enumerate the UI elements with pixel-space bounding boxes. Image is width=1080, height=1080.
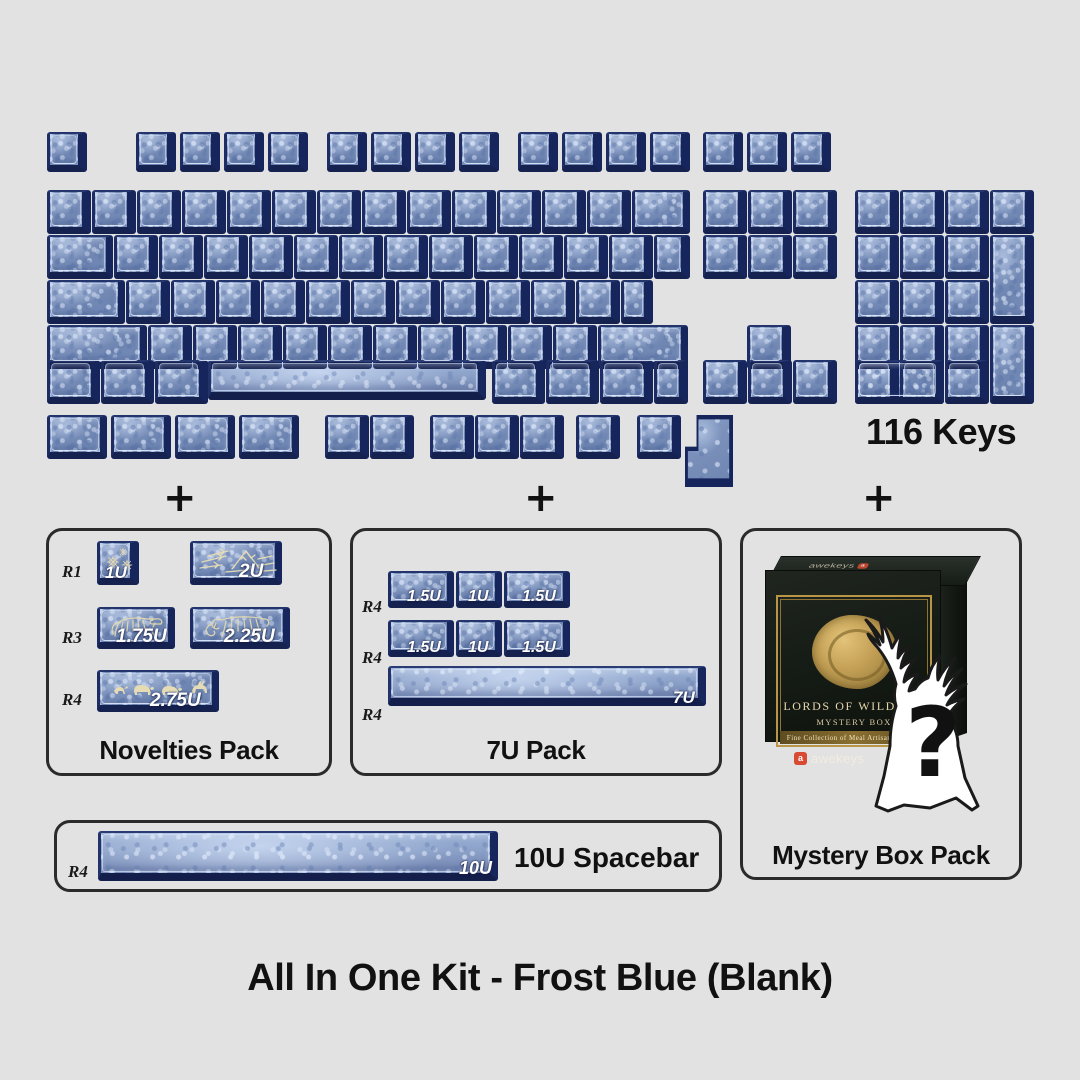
keycap-face	[388, 238, 418, 271]
keycap-face	[751, 328, 781, 361]
keycap-mods-row-2	[175, 415, 235, 459]
keycap-face	[535, 283, 565, 316]
keycap-number-row-14	[703, 190, 747, 234]
keycap-face	[546, 193, 576, 226]
keycap-face	[522, 135, 548, 164]
keycap-qwerty-row-14	[703, 235, 747, 279]
keycap-face	[654, 135, 680, 164]
keycap-face	[419, 135, 445, 164]
brand-mark-icon: a	[794, 752, 807, 765]
keycap-face	[994, 238, 1024, 316]
keycap-home-row-7	[396, 280, 440, 324]
keycap-home-row-13	[855, 280, 899, 324]
keycap-number-row-20	[990, 190, 1034, 234]
keycap-qwerty-row-3	[204, 235, 248, 279]
keycap-face	[797, 363, 827, 396]
sevenu-keycap-1u-b[interactable]	[456, 620, 502, 657]
keycap-mods-row-7	[475, 415, 519, 459]
keycap-face	[707, 238, 737, 271]
keycap-face	[636, 193, 682, 226]
keycap-number-row-13	[632, 190, 690, 234]
keycap-home-row-4	[261, 280, 305, 324]
keycap-qwerty-row-12	[609, 235, 653, 279]
keycap-qwerty-row-5	[294, 235, 338, 279]
keycap-home-row-11	[576, 280, 620, 324]
keycap-face	[366, 193, 396, 226]
keycap-face	[707, 135, 733, 164]
keycap-face	[445, 283, 475, 316]
keycap-face	[272, 135, 298, 164]
keycap-number-row-17	[855, 190, 899, 234]
keycap-mods-row-1	[111, 415, 171, 459]
keycap-function-row-15	[791, 132, 831, 172]
keycap-number-row-7	[362, 190, 406, 234]
novelties-row-label-r3: R3	[62, 628, 82, 648]
keycap-function-row-2	[180, 132, 220, 172]
keycap-face	[949, 238, 979, 271]
keycap-face	[566, 135, 592, 164]
keycap-face	[557, 328, 587, 361]
keycap-home-row-12	[621, 280, 653, 324]
keycap-home-row-2	[171, 280, 215, 324]
keycap-face	[467, 328, 497, 361]
keycap-face	[375, 135, 401, 164]
keycap-bottom-row-1	[101, 360, 154, 404]
keycap-face	[604, 363, 643, 396]
keycap-qwerty-row-16	[793, 235, 837, 279]
keycap-face	[152, 328, 182, 361]
keycap-number-row-16	[793, 190, 837, 234]
plus-separator-2: +	[524, 478, 558, 518]
keycap-mods-row-4	[325, 415, 369, 459]
keycap-face	[159, 363, 198, 396]
keycap-face	[751, 135, 777, 164]
keycap-function-row-12	[650, 132, 690, 172]
keycap-function-row-1	[136, 132, 176, 172]
keycap-face	[332, 328, 362, 361]
novelties-pack-label: Novelties Pack	[46, 735, 332, 766]
keycap-face	[580, 283, 610, 316]
product-image-canvas: 116 Keys + + + R1 R3 R4	[0, 0, 1080, 1080]
keycap-face	[859, 193, 889, 226]
keycap-face	[904, 238, 934, 271]
keycap-face	[859, 328, 889, 361]
keycap-bottom-row-5	[600, 360, 653, 404]
keycap-face	[602, 328, 680, 361]
sevenu-keycap-15u-a[interactable]	[388, 571, 454, 608]
novelties-row-label-r1: R1	[62, 562, 82, 582]
keycap-face	[904, 328, 934, 361]
keycap-face	[130, 283, 160, 316]
keycap-face	[253, 238, 283, 271]
keycap-qwerty-row-10	[519, 235, 563, 279]
keycap-number-row-2	[137, 190, 181, 234]
keycap-face	[101, 544, 129, 577]
keycap-face	[434, 418, 464, 451]
keycap-face	[243, 418, 291, 451]
keycap-function-row-10	[562, 132, 602, 172]
keycap-qwerty-row-1	[114, 235, 158, 279]
keycap-face	[479, 418, 509, 451]
keycap-face	[374, 418, 404, 451]
keycap-face	[411, 193, 441, 226]
keycap-numpad-tall-0	[990, 235, 1034, 324]
keycap-face	[96, 193, 126, 226]
keycap-face	[140, 135, 166, 164]
keycap-face	[343, 238, 373, 271]
sevenu-keycap-1u-a[interactable]	[456, 571, 502, 608]
sevenu-row-label-3: R4	[362, 705, 382, 725]
keycap-face	[329, 418, 359, 451]
keycap-face	[591, 193, 621, 226]
keycap-qwerty-row-13	[654, 235, 690, 279]
keycap-function-row-13	[703, 132, 743, 172]
novelty-keycap-275u[interactable]	[97, 670, 219, 712]
keycap-number-row-10	[497, 190, 541, 234]
keycap-function-row-0	[47, 132, 87, 172]
keycap-face	[265, 283, 295, 316]
keycap-face	[797, 238, 827, 271]
keycap-function-row-14	[747, 132, 787, 172]
keycap-home-row-8	[441, 280, 485, 324]
keycap-face	[276, 193, 306, 226]
keycap-numpad-zero	[855, 360, 944, 404]
keycap-face	[321, 193, 351, 226]
keycap-face	[118, 238, 148, 271]
keycap-face	[377, 328, 407, 361]
keycap-face	[105, 363, 144, 396]
keycap-face	[859, 283, 889, 316]
keycap-function-row-8	[459, 132, 499, 172]
box-lid-brand: awekeys a	[807, 563, 869, 570]
keycap-qwerty-row-11	[564, 235, 608, 279]
keycap-face	[904, 283, 934, 316]
spacebar-10u-keycap[interactable]	[98, 831, 498, 881]
keycap-face	[859, 363, 936, 396]
product-title: All In One Kit - Frost Blue (Blank)	[0, 957, 1080, 1000]
keycap-number-row-5	[272, 190, 316, 234]
keycap-face	[51, 283, 117, 316]
keycap-number-row-15	[748, 190, 792, 234]
keycap-face	[115, 418, 163, 451]
sevenu-spacebar-keycap[interactable]	[388, 666, 706, 706]
keycap-face	[51, 418, 99, 451]
keycap-face	[228, 135, 254, 164]
keycap-qwerty-row-18	[900, 235, 944, 279]
sevenu-keycap-15u-b[interactable]	[504, 571, 570, 608]
keycap-face	[141, 193, 171, 226]
keycap-mods-row-6	[430, 415, 474, 459]
keycap-home-row-6	[351, 280, 395, 324]
keycap-number-row-11	[542, 190, 586, 234]
spacebar-10u-label: 10U Spacebar	[514, 842, 699, 874]
sevenu-row-label-2: R4	[362, 648, 382, 668]
keycap-home-row-15	[945, 280, 989, 324]
keycap-face	[463, 135, 489, 164]
keycap-qwerty-row-4	[249, 235, 293, 279]
keycap-number-row-0	[47, 190, 91, 234]
keycap-function-row-9	[518, 132, 558, 172]
keycap-qwerty-row-8	[429, 235, 473, 279]
keycap-mods-row-10	[637, 415, 681, 459]
keycap-face	[859, 238, 889, 271]
keycap-face	[355, 283, 385, 316]
keycap-face	[433, 238, 463, 271]
keycap-number-row-8	[407, 190, 451, 234]
keycap-face	[949, 283, 979, 316]
keycap-face	[194, 610, 282, 641]
keycap-face	[949, 328, 979, 361]
keycap-face	[208, 238, 238, 271]
keycap-bottom-row-6	[654, 360, 688, 404]
keycap-number-row-4	[227, 190, 271, 234]
keycap-number-row-6	[317, 190, 361, 234]
keycap-face	[101, 673, 211, 704]
brand-name-lid: awekeys	[807, 563, 856, 570]
keycap-qwerty-row-2	[159, 235, 203, 279]
keycap-face	[478, 238, 508, 271]
keycap-home-row-5	[306, 280, 350, 324]
keycap-mods-row-0	[47, 415, 107, 459]
keycap-face	[490, 283, 520, 316]
keycap-face	[550, 363, 589, 396]
keycap-face	[51, 135, 77, 164]
mystery-pack-label: Mystery Box Pack	[740, 840, 1022, 871]
keycap-face	[994, 193, 1024, 226]
keycap-face	[231, 193, 261, 226]
keycap-face	[512, 328, 542, 361]
keycap-face	[752, 193, 782, 226]
novelty-keycap-175u[interactable]	[97, 607, 175, 649]
keycap-function-row-6	[371, 132, 411, 172]
keycap-face	[752, 363, 782, 396]
keycap-qwerty-row-15	[748, 235, 792, 279]
keycap-face	[163, 238, 193, 271]
keycap-count-label: 116 Keys	[866, 411, 1016, 453]
keycap-face	[220, 283, 250, 316]
keycap-number-row-19	[945, 190, 989, 234]
keycap-number-row-12	[587, 190, 631, 234]
keycap-bottom-row-12	[945, 360, 989, 404]
keycap-face	[625, 283, 643, 316]
keycap-bottom-row-3	[492, 360, 545, 404]
keycap-bottom-row-0	[47, 360, 100, 404]
keycap-face	[175, 283, 205, 316]
keycap-face	[184, 135, 210, 164]
keycap-number-row-18	[900, 190, 944, 234]
keycap-function-row-11	[606, 132, 646, 172]
sevenu-keycap-15u-d[interactable]	[504, 620, 570, 657]
keycap-bottom-row-9	[793, 360, 837, 404]
keycap-face	[51, 363, 90, 396]
keycap-face	[242, 328, 272, 361]
keycap-home-row-14	[900, 280, 944, 324]
keycap-mods-row-3	[239, 415, 299, 459]
keycap-face	[51, 238, 105, 271]
keycap-face	[994, 328, 1024, 396]
keycap-function-row-5	[327, 132, 367, 172]
novelty-keycap-1u[interactable]	[97, 541, 139, 585]
keycap-face	[568, 238, 598, 271]
keycap-qwerty-row-9	[474, 235, 518, 279]
keycap-number-row-9	[452, 190, 496, 234]
plus-separator-3: +	[862, 478, 896, 518]
keycap-face	[186, 193, 216, 226]
keycap-face	[101, 610, 167, 641]
keycap-number-row-3	[182, 190, 226, 234]
novelty-keycap-2u[interactable]	[190, 541, 282, 585]
sevenu-row-label-1: R4	[362, 597, 382, 617]
keycap-face	[523, 238, 553, 271]
keycap-face	[310, 283, 340, 316]
keycap-face	[904, 193, 934, 226]
keycap-face	[641, 418, 671, 451]
keycap-qwerty-row-17	[855, 235, 899, 279]
keycap-face	[400, 283, 430, 316]
keycap-home-row-3	[216, 280, 260, 324]
keycap-face	[197, 328, 227, 361]
keycap-home-row-10	[531, 280, 575, 324]
keycap-face	[949, 363, 979, 396]
keycap-bottom-row-2	[155, 360, 208, 404]
keycap-face	[795, 135, 821, 164]
keycap-face	[610, 135, 636, 164]
iso-enter-keycap	[685, 415, 733, 487]
keycap-face	[501, 193, 531, 226]
keycap-face	[179, 418, 227, 451]
keycap-qwerty-row-19	[945, 235, 989, 279]
plus-separator-1: +	[163, 478, 197, 518]
keycap-mods-row-9	[576, 415, 620, 459]
keycap-face	[752, 238, 782, 271]
keycap-face	[496, 363, 535, 396]
keycap-function-row-4	[268, 132, 308, 172]
keycap-mods-row-8	[520, 415, 564, 459]
keycap-face	[707, 193, 737, 226]
keycap-face	[707, 363, 737, 396]
keycap-bottom-row-4	[546, 360, 599, 404]
keycap-face	[456, 193, 486, 226]
keycap-qwerty-row-0	[47, 235, 113, 279]
keycap-face	[287, 328, 317, 361]
novelty-keycap-225u[interactable]	[190, 607, 290, 649]
keycap-home-row-9	[486, 280, 530, 324]
keycap-number-row-1	[92, 190, 136, 234]
keycap-face	[194, 544, 274, 577]
keycap-face	[331, 135, 357, 164]
keycap-home-row-1	[126, 280, 170, 324]
keycap-bottom-row-7	[703, 360, 747, 404]
sevenu-keycap-15u-c[interactable]	[388, 620, 454, 657]
question-mark-overlay: ?	[905, 695, 961, 791]
keycap-face	[298, 238, 328, 271]
spacebar-10u-row-label: R4	[68, 862, 88, 882]
keycap-face	[658, 238, 680, 271]
keycap-mods-row-5	[370, 415, 414, 459]
keycap-home-row-0	[47, 280, 125, 324]
sevenu-pack-label: 7U Pack	[350, 735, 722, 766]
keycap-face	[524, 418, 554, 451]
keycap-face	[51, 328, 139, 361]
keycap-face	[613, 238, 643, 271]
keycap-bottom-row-8	[748, 360, 792, 404]
main-spacebar-keycap	[208, 360, 486, 400]
keycap-face	[580, 418, 610, 451]
keycap-qwerty-row-6	[339, 235, 383, 279]
keycap-face	[797, 193, 827, 226]
keycap-qwerty-row-7	[384, 235, 428, 279]
keycap-face	[51, 193, 81, 226]
keycap-numpad-tall-1	[990, 325, 1034, 404]
keycap-face	[422, 328, 452, 361]
keycap-function-row-7	[415, 132, 455, 172]
keycap-function-row-3	[224, 132, 264, 172]
keycap-face	[949, 193, 979, 226]
keycap-face	[212, 363, 477, 391]
novelties-row-label-r4: R4	[62, 690, 82, 710]
keycap-face	[658, 363, 678, 396]
